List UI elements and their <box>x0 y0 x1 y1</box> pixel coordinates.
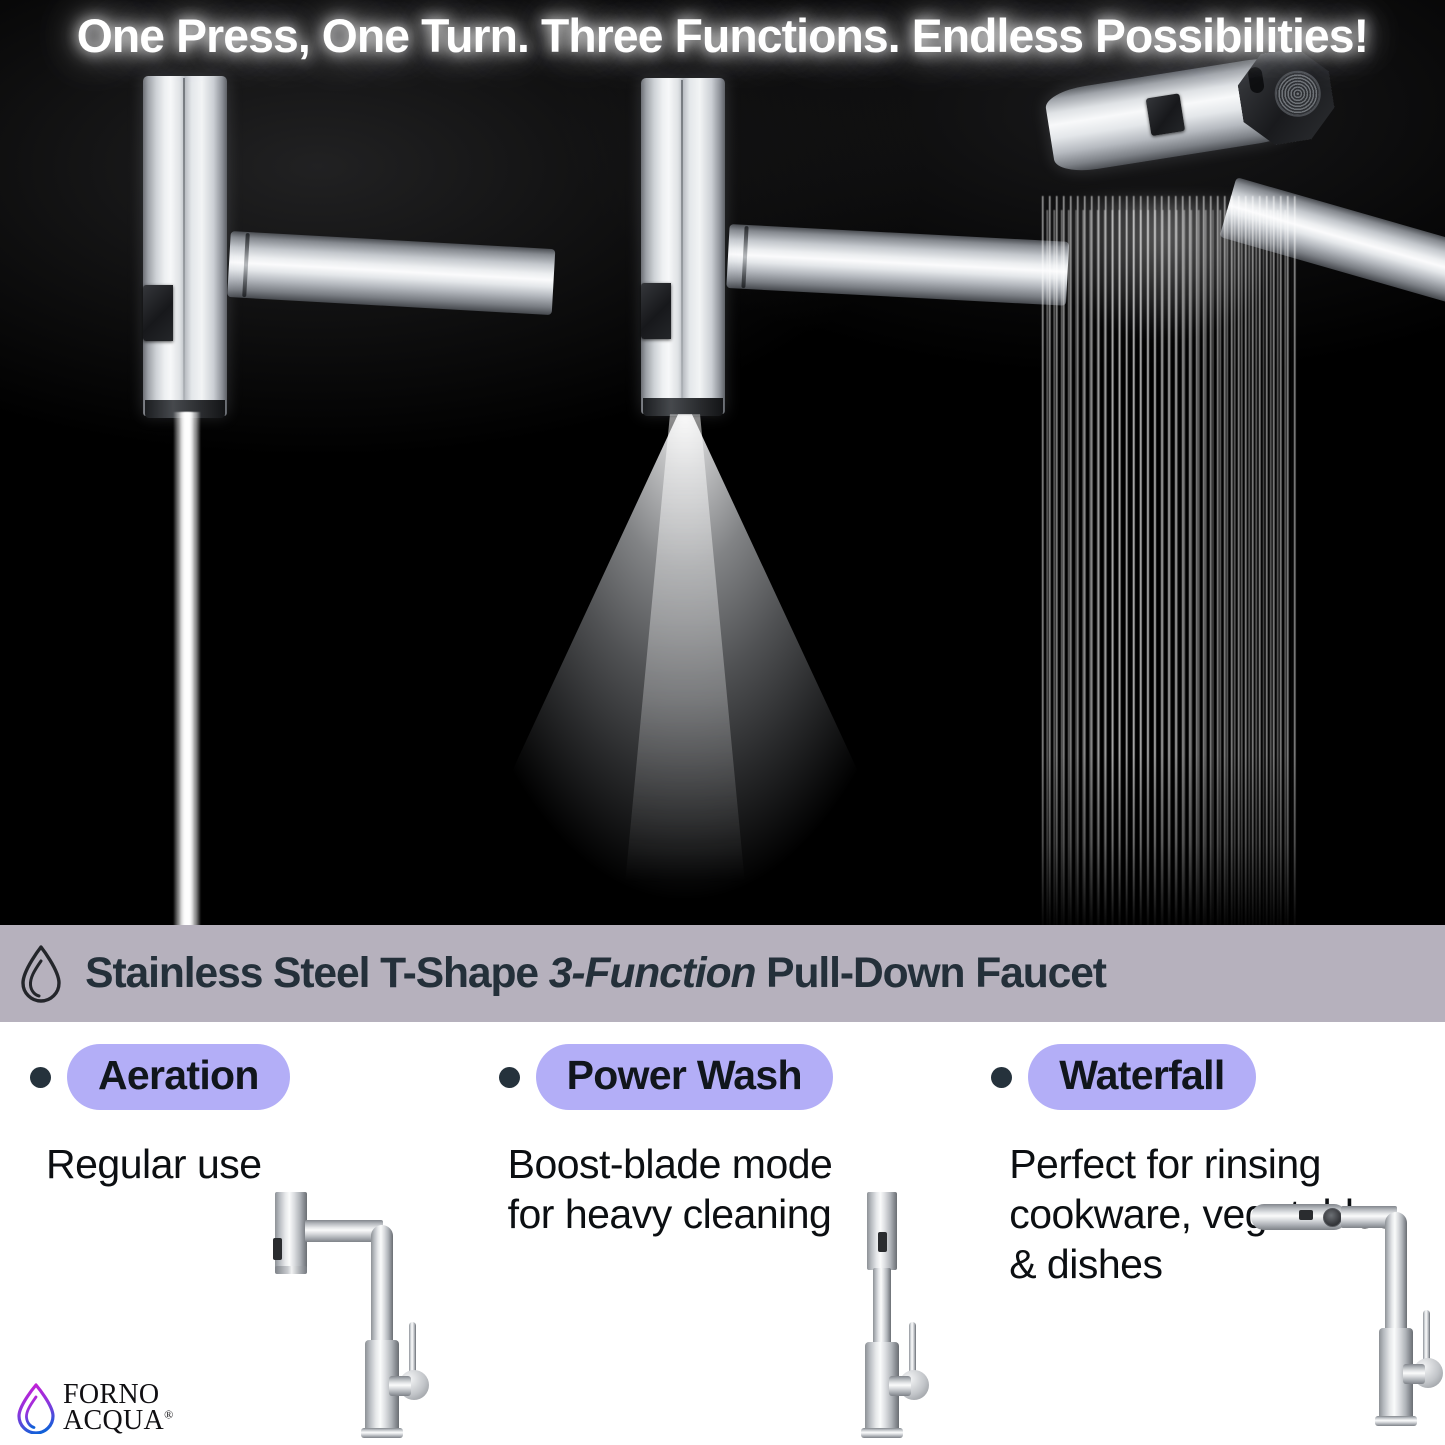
handle-joint <box>1403 1364 1425 1384</box>
spray-head <box>641 78 725 414</box>
base-plate <box>1375 1416 1417 1426</box>
feature-heading: Power Wash <box>499 1044 833 1110</box>
water-droplet-icon <box>18 943 64 1005</box>
sprayer-shaft <box>873 1268 891 1346</box>
bullet-dot <box>499 1067 520 1088</box>
bullet-dot <box>30 1067 51 1088</box>
feature-description-aeration: Regular use <box>46 1139 376 1189</box>
banner-title-part2: Pull-Down Faucet <box>755 949 1105 997</box>
base-plate <box>361 1428 403 1438</box>
mode-button <box>1146 93 1186 136</box>
gooseneck-column <box>371 1225 393 1343</box>
spray-head <box>143 76 227 416</box>
handle-joint <box>389 1376 411 1396</box>
head-seam <box>681 80 683 412</box>
brand-wordmark: FORNO ACQUA® <box>63 1382 173 1435</box>
mode-button <box>641 283 671 339</box>
sprayer-button <box>878 1232 887 1252</box>
product-title-banner: Stainless Steel T-Shape 3-Function Pull-… <box>0 925 1445 1022</box>
mode-button <box>143 285 173 341</box>
sprayer-tip <box>275 1266 307 1274</box>
bullet-dot <box>991 1067 1012 1088</box>
head-seam <box>183 78 185 414</box>
head-base <box>643 398 723 416</box>
faucet-product-image-aeration <box>253 1192 468 1445</box>
brand-line-2: ACQUA® <box>63 1408 173 1434</box>
brand-line-2-text: ACQUA <box>63 1405 164 1436</box>
sprayer-button <box>1299 1210 1313 1220</box>
sprayer-button <box>273 1238 282 1260</box>
handle-joint <box>889 1376 911 1396</box>
feature-description-power-wash: Boost-blade mode for heavy cleaning <box>508 1139 880 1239</box>
base-plate <box>861 1428 903 1438</box>
feature-card-power-wash: Power Wash Boost-blade mode for heavy cl… <box>482 1022 964 1445</box>
sprayer-head <box>867 1192 897 1270</box>
hero-section: One Press, One Turn. Three Functions. En… <box>0 0 1445 925</box>
feature-pill-power-wash[interactable]: Power Wash <box>536 1044 833 1110</box>
product-infographic: One Press, One Turn. Three Functions. En… <box>0 0 1445 1445</box>
feature-heading: Aeration <box>30 1044 290 1110</box>
feature-pill-aeration[interactable]: Aeration <box>67 1044 290 1110</box>
feature-card-waterfall: Waterfall Perfect for rinsing cookware, … <box>963 1022 1445 1445</box>
brand-logo[interactable]: FORNO ACQUA® <box>14 1382 173 1435</box>
features-row: Aeration Regular use Power Wash <box>0 1022 1445 1445</box>
page-headline: One Press, One Turn. Three Functions. En… <box>11 8 1434 63</box>
water-stream-core <box>179 412 194 925</box>
faucet-product-image-power-wash <box>853 1192 973 1445</box>
water-rain-fade <box>1020 560 1320 925</box>
feature-pill-waterfall[interactable]: Waterfall <box>1028 1044 1255 1110</box>
banner-title: Stainless Steel T-Shape 3-Function Pull-… <box>85 949 1106 998</box>
banner-title-part1: Stainless Steel T-Shape <box>85 949 549 997</box>
banner-title-italic: 3-Function <box>549 949 756 997</box>
registered-mark: ® <box>164 1408 173 1422</box>
faucet-product-image-waterfall <box>1251 1200 1445 1445</box>
gooseneck-column <box>1385 1212 1407 1332</box>
feature-heading: Waterfall <box>991 1044 1255 1110</box>
gradient-droplet-icon <box>14 1382 58 1434</box>
